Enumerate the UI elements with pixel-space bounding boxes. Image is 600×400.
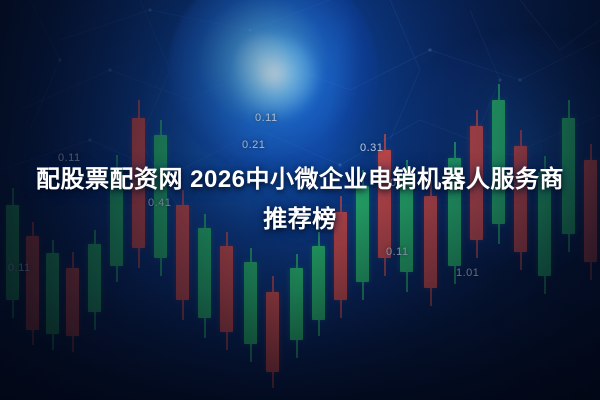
title-line-2: 推荐榜 [0,200,600,240]
page-title: 配股票配资网 2026中小微企业电销机器人服务商 推荐榜 [0,160,600,240]
title-line-1: 配股票配资网 2026中小微企业电销机器人服务商 [0,160,600,200]
image-canvas: 0.110.210.310.110.110.410.110.111.01 配股票… [0,0,600,400]
